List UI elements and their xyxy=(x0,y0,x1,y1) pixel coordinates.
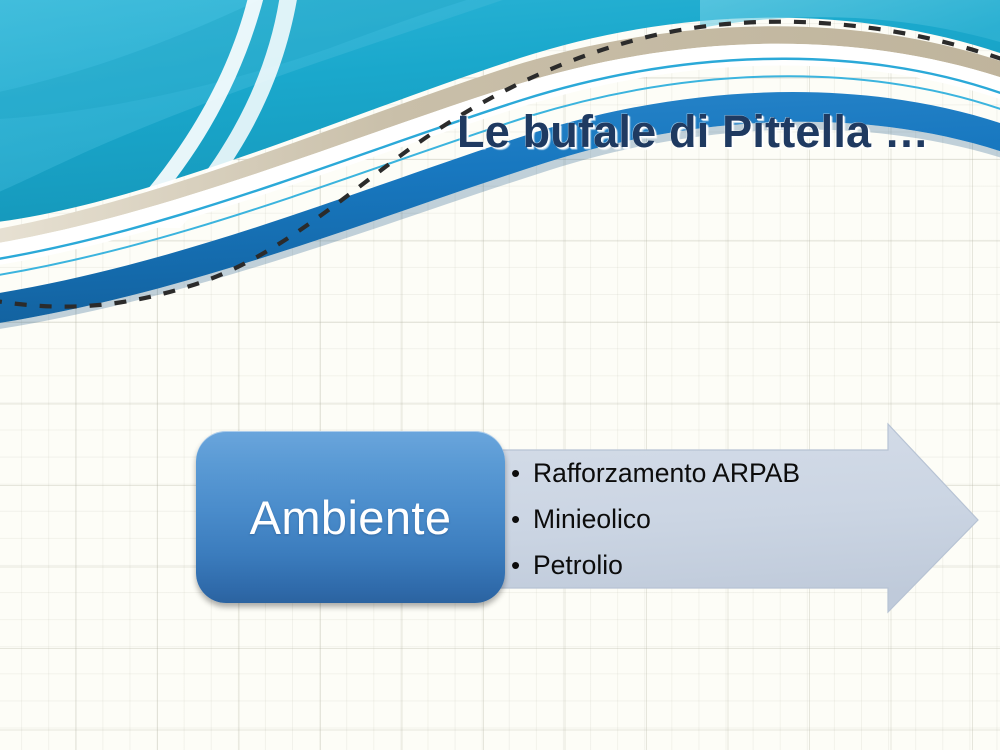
white-streak-2 xyxy=(160,0,300,228)
bullet-text: Minieolico xyxy=(533,504,651,534)
teal-wave-highlight-left xyxy=(0,0,560,200)
arrow-bullet-list: Rafforzamento ARPAB Minieolico Petrolio xyxy=(505,450,885,588)
bullet-text: Petrolio xyxy=(533,550,623,580)
header-decoration-artwork xyxy=(0,0,1000,330)
teal-wave-highlight-right xyxy=(700,0,1000,48)
concept-box-ambiente[interactable]: Ambiente xyxy=(196,431,505,603)
thin-cyan-line-1 xyxy=(0,59,1000,262)
teal-wave-ripple xyxy=(0,0,540,120)
dashed-trend-curve xyxy=(0,22,1000,307)
slide-canvas: Le bufale di Pittella … Rafforzamento AR… xyxy=(0,0,1000,750)
concept-box-label: Ambiente xyxy=(250,490,452,545)
bullet-text: Rafforzamento ARPAB xyxy=(533,458,800,488)
list-item: Minieolico xyxy=(505,496,885,542)
list-item: Petrolio xyxy=(505,542,885,588)
white-streak xyxy=(130,0,268,210)
page-title: Le bufale di Pittella … xyxy=(457,106,929,158)
list-item: Rafforzamento ARPAB xyxy=(505,450,885,496)
